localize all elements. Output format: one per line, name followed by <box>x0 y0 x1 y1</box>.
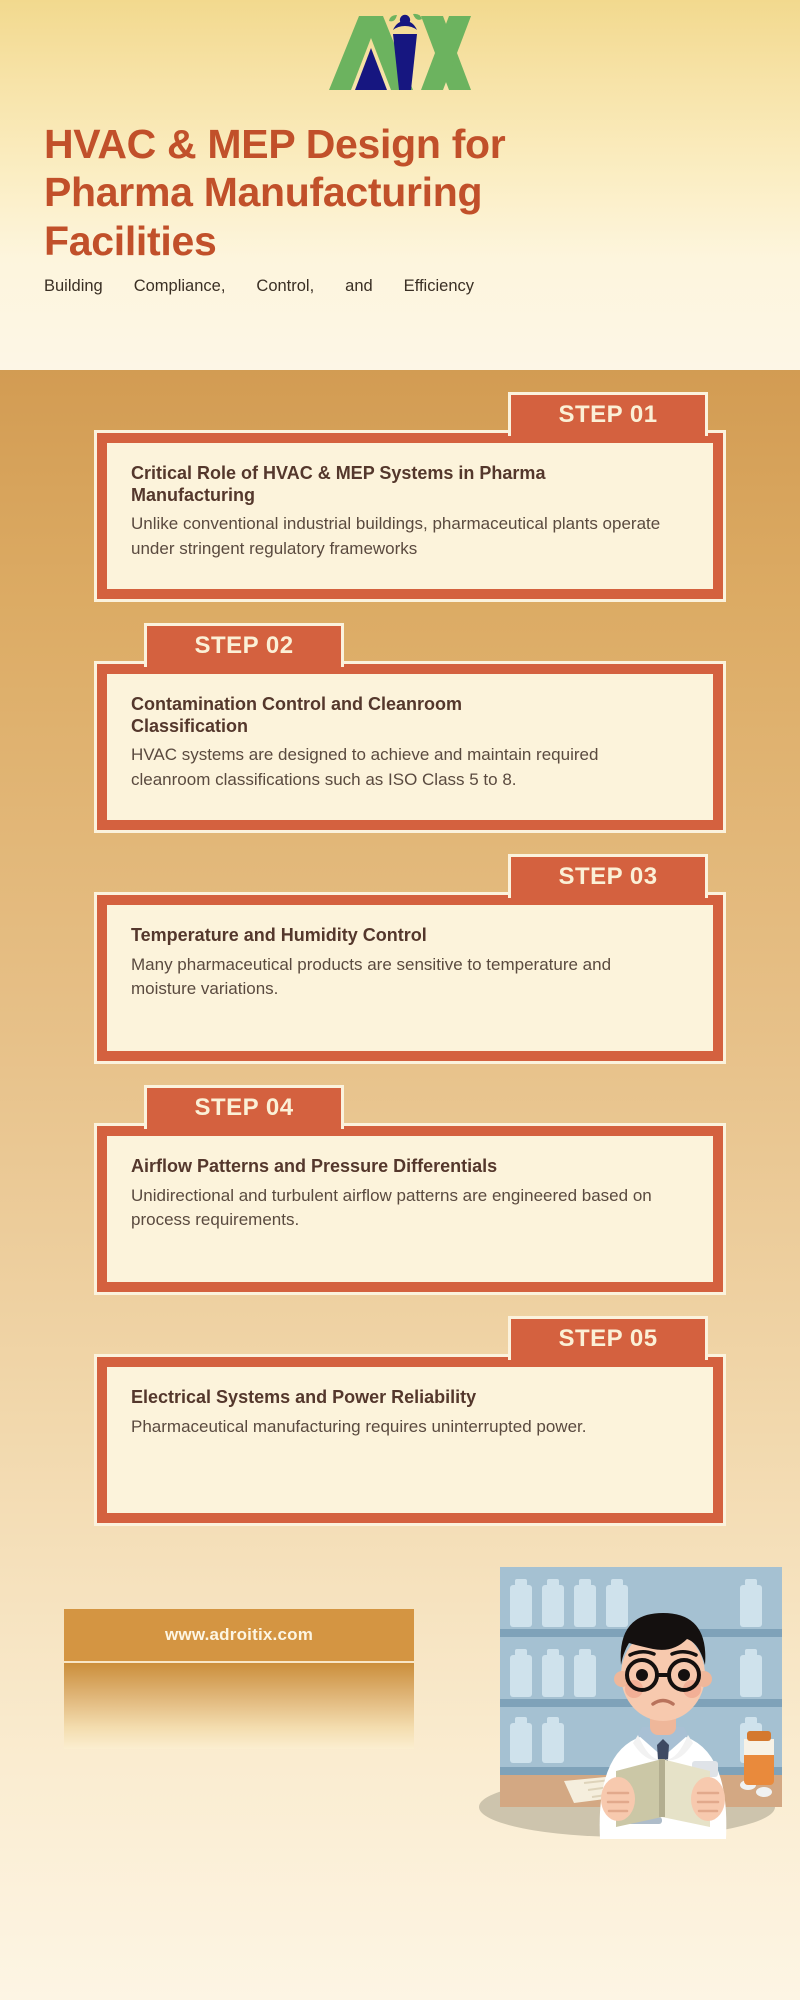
step-item: STEP 04 Airflow Patterns and Pressure Di… <box>74 1085 726 1300</box>
step-body: Many pharmaceutical products are sensiti… <box>131 953 676 1002</box>
step-body: Pharmaceutical manufacturing requires un… <box>131 1415 676 1440</box>
step-badge[interactable]: STEP 01 <box>508 392 708 436</box>
step-title: Airflow Patterns and Pressure Differenti… <box>131 1156 571 1178</box>
footer-section: www.adroitix.com <box>0 1547 800 1847</box>
step-title: Temperature and Humidity Control <box>131 925 571 947</box>
website-url[interactable]: www.adroitix.com <box>64 1609 414 1661</box>
header-section: HVAC & MEP Design for Pharma Manufacturi… <box>0 0 800 370</box>
aix-logo-icon <box>325 12 475 94</box>
step-card[interactable]: Contamination Control and Cleanroom Clas… <box>94 661 726 833</box>
step-badge[interactable]: STEP 04 <box>144 1085 344 1129</box>
step-item: STEP 02 Contamination Control and Cleanr… <box>74 623 726 838</box>
step-card[interactable]: Critical Role of HVAC & MEP Systems in P… <box>94 430 726 602</box>
url-gradient-strip <box>64 1663 414 1749</box>
page-title: HVAC & MEP Design for Pharma Manufacturi… <box>44 120 644 265</box>
step-item: STEP 01 Critical Role of HVAC & MEP Syst… <box>74 392 726 607</box>
step-card[interactable]: Electrical Systems and Power Reliability… <box>94 1354 726 1526</box>
steps-list: STEP 01 Critical Role of HVAC & MEP Syst… <box>0 370 800 1531</box>
step-badge[interactable]: STEP 02 <box>144 623 344 667</box>
step-badge[interactable]: STEP 03 <box>508 854 708 898</box>
pharmacist-reading-book-illustration <box>452 1549 782 1839</box>
step-badge[interactable]: STEP 05 <box>508 1316 708 1360</box>
step-title: Electrical Systems and Power Reliability <box>131 1387 571 1409</box>
page-subtitle: Building Compliance, Control, and Effici… <box>44 275 474 323</box>
step-body: Unidirectional and turbulent airflow pat… <box>131 1184 676 1233</box>
step-title: Critical Role of HVAC & MEP Systems in P… <box>131 463 571 506</box>
logo-container <box>44 0 756 98</box>
step-card[interactable]: Temperature and Humidity Control Many ph… <box>94 892 726 1064</box>
step-body: HVAC systems are designed to achieve and… <box>131 743 676 792</box>
step-title: Contamination Control and Cleanroom Clas… <box>131 694 571 737</box>
infographic-page: HVAC & MEP Design for Pharma Manufacturi… <box>0 0 800 2000</box>
step-item: STEP 03 Temperature and Humidity Control… <box>74 854 726 1069</box>
step-body: Unlike conventional industrial buildings… <box>131 512 676 561</box>
step-card[interactable]: Airflow Patterns and Pressure Differenti… <box>94 1123 726 1295</box>
step-item: STEP 05 Electrical Systems and Power Rel… <box>74 1316 726 1531</box>
